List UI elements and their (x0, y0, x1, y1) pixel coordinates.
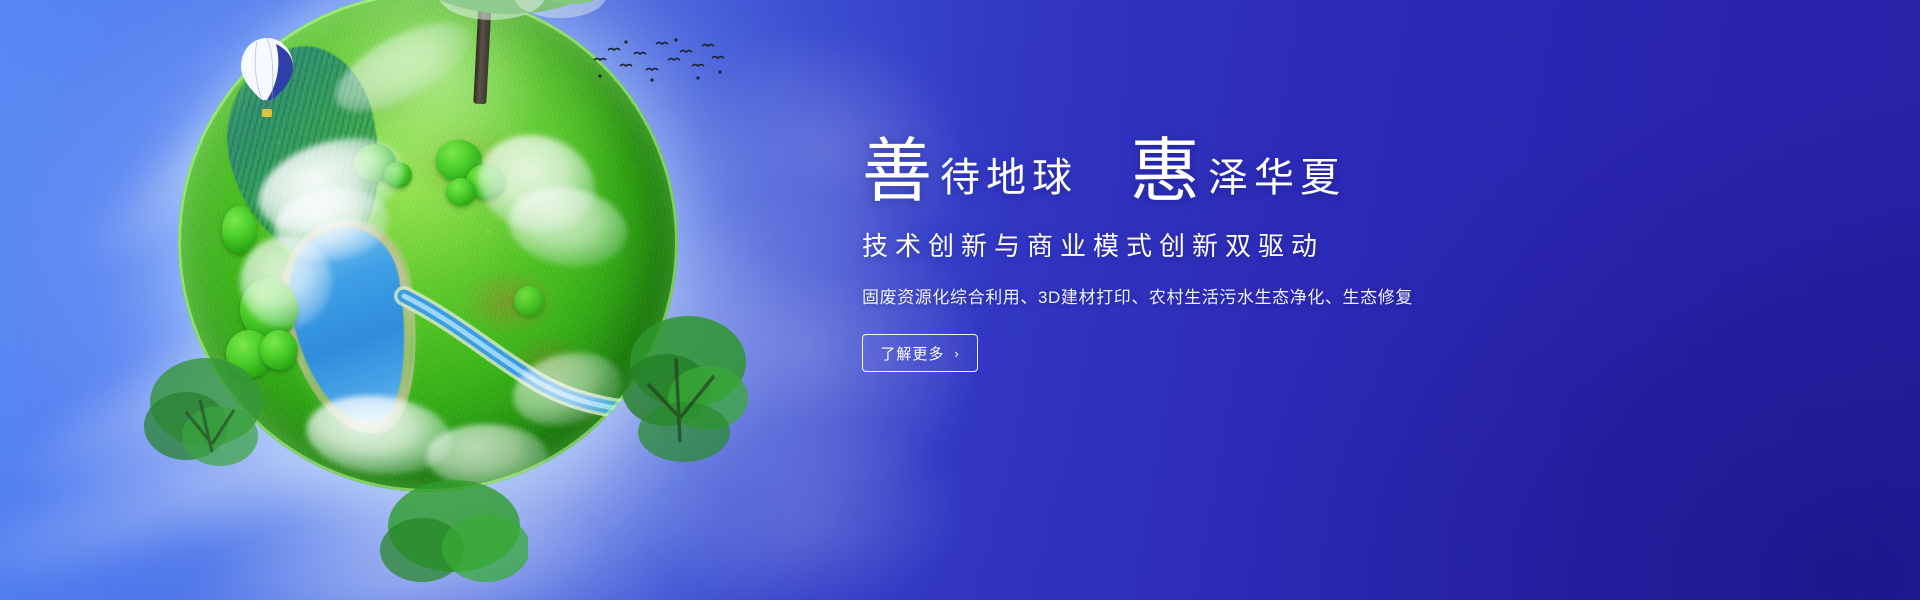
tiny-planet-earth-illustration (178, 0, 688, 592)
page-subtitle: 技术创新与商业模式创新双驱动 (862, 226, 1622, 263)
bird-flock-icon (590, 34, 726, 88)
chevron-right-icon: › (954, 347, 959, 360)
tree-icon (614, 292, 750, 470)
headline-rest-chars-1: 待地球 (932, 158, 1078, 198)
headline-lead-char-2: 惠 (1130, 138, 1200, 208)
learn-more-button[interactable]: 了解更多 › (862, 334, 978, 372)
tree-icon (378, 460, 528, 592)
headline-rest-chars-2: 泽华夏 (1200, 158, 1346, 198)
hero-content: 善 待地球 惠 泽华夏 技术创新与商业模式创新双驱动 固废资源化综合利用、3D建… (862, 134, 1622, 372)
learn-more-label: 了解更多 (880, 343, 944, 364)
hero-banner: 善 待地球 惠 泽华夏 技术创新与商业模式创新双驱动 固废资源化综合利用、3D建… (0, 0, 1920, 600)
page-title: 善 待地球 惠 泽华夏 (862, 134, 1622, 204)
hot-air-balloon-icon (238, 36, 296, 122)
page-description: 固废资源化综合利用、3D建材打印、农村生活污水生态净化、生态修复 (862, 283, 1622, 308)
tree-icon (142, 340, 262, 490)
headline-lead-char-1: 善 (862, 138, 932, 208)
